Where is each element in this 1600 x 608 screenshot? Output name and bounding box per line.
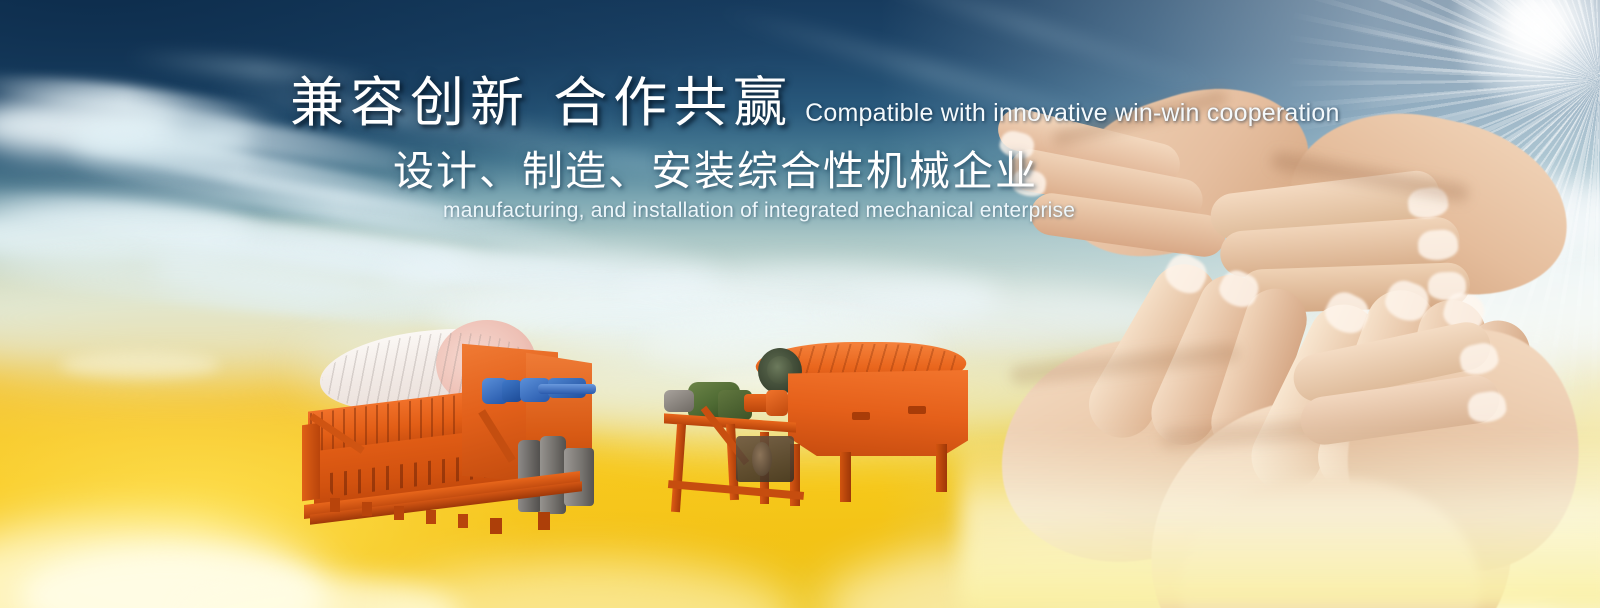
subline-english-subtitle: manufacturing, and installation of integ… bbox=[443, 199, 1075, 223]
headline-row: 兼容创新 合作共赢 Compatible with innovative win… bbox=[290, 74, 1340, 132]
promo-banner: 兼容创新 合作共赢 Compatible with innovative win… bbox=[0, 0, 1600, 608]
ceramic-disc-filter-image bbox=[286, 312, 616, 538]
headline-english-subtitle: Compatible with innovative win-win coope… bbox=[805, 100, 1339, 127]
page-title: 兼容创新 合作共赢 bbox=[290, 74, 793, 132]
hands-cloud-fade bbox=[960, 430, 1600, 608]
page-subtitle: 设计、制造、安装综合性机械企业 bbox=[393, 148, 1038, 194]
banner-text-block: 兼容创新 合作共赢 Compatible with innovative win… bbox=[0, 0, 1250, 240]
magnetic-separator-drum-image bbox=[640, 336, 970, 516]
subline-row: 设计、制造、安装综合性机械企业 bbox=[393, 148, 1038, 194]
